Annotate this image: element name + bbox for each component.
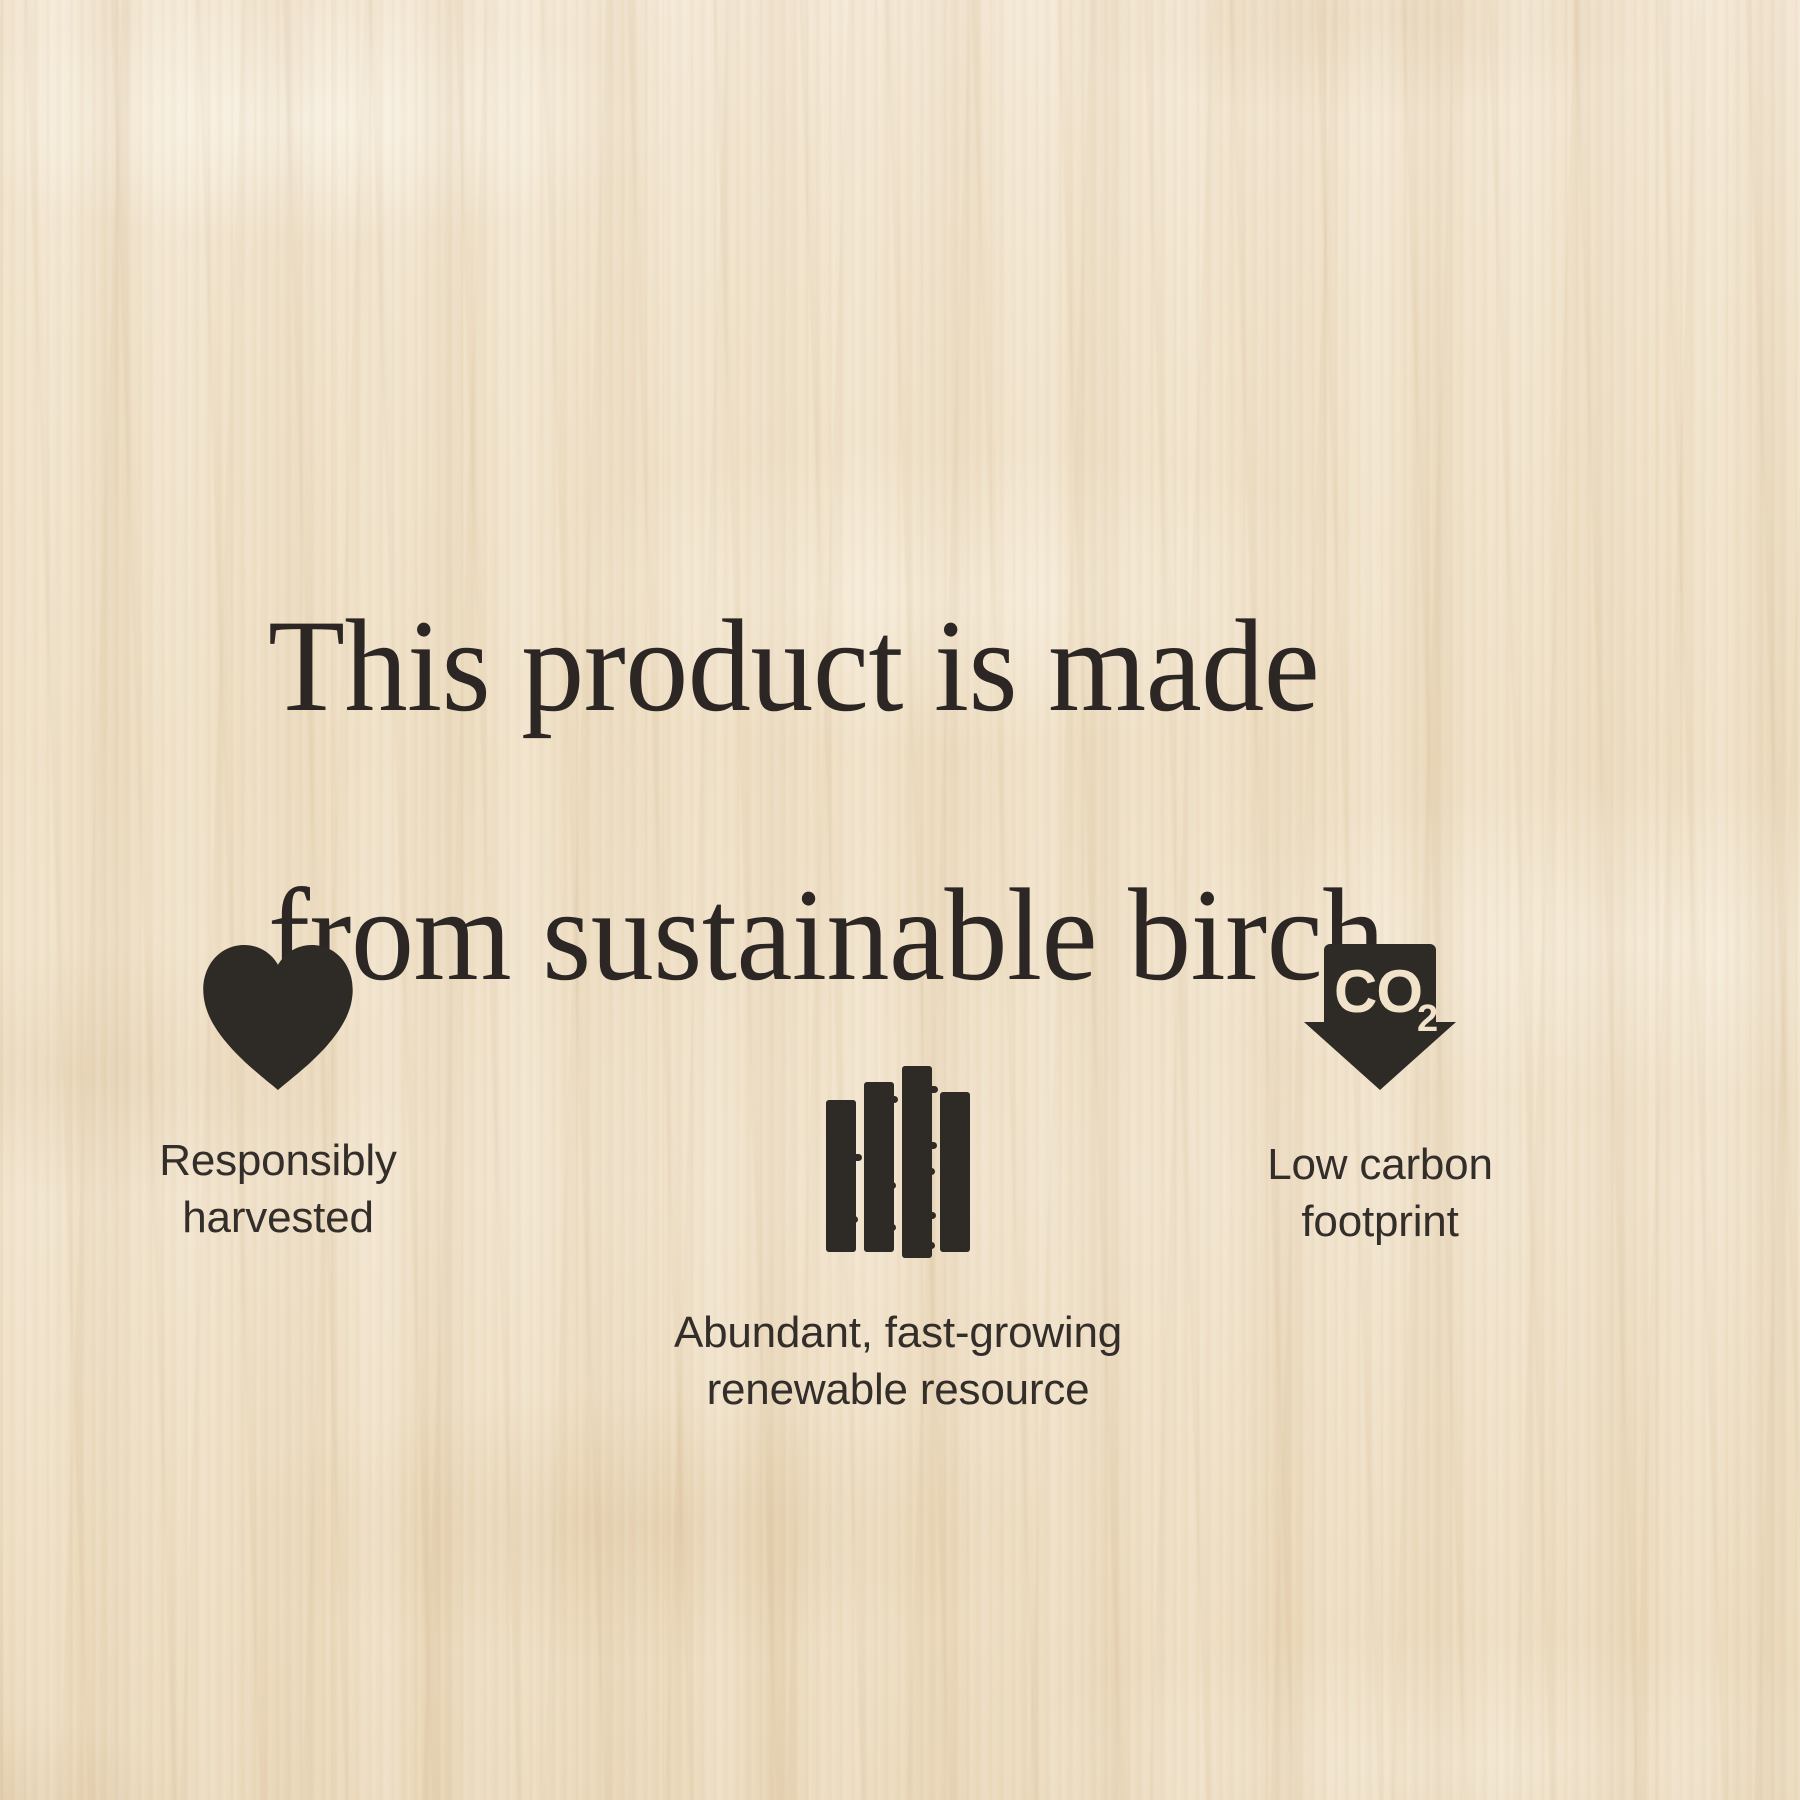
birch-trunks-icon (824, 1064, 972, 1264)
co2-down-arrow-icon: CO 2 (1300, 940, 1460, 1092)
feature-list: Responsibly harvested (0, 0, 1800, 1800)
sustainable-birch-poster: This product is made from sustainable bi… (0, 0, 1800, 1800)
feature-caption: Responsibly harvested (108, 1132, 448, 1246)
feature-low-carbon-footprint: CO 2 Low carbon footprint (1100, 928, 1660, 1250)
feature-icon-slot (108, 920, 448, 1092)
svg-text:CO: CO (1334, 958, 1422, 1025)
feature-caption: Low carbon footprint (1100, 1136, 1660, 1250)
svg-text:2: 2 (1417, 998, 1438, 1040)
wood-grain-heart-icon (200, 942, 356, 1092)
feature-caption: Abundant, fast-growing renewable resourc… (548, 1304, 1248, 1418)
feature-responsibly-harvested: Responsibly harvested (108, 920, 448, 1246)
feature-icon-slot: CO 2 (1100, 928, 1660, 1092)
